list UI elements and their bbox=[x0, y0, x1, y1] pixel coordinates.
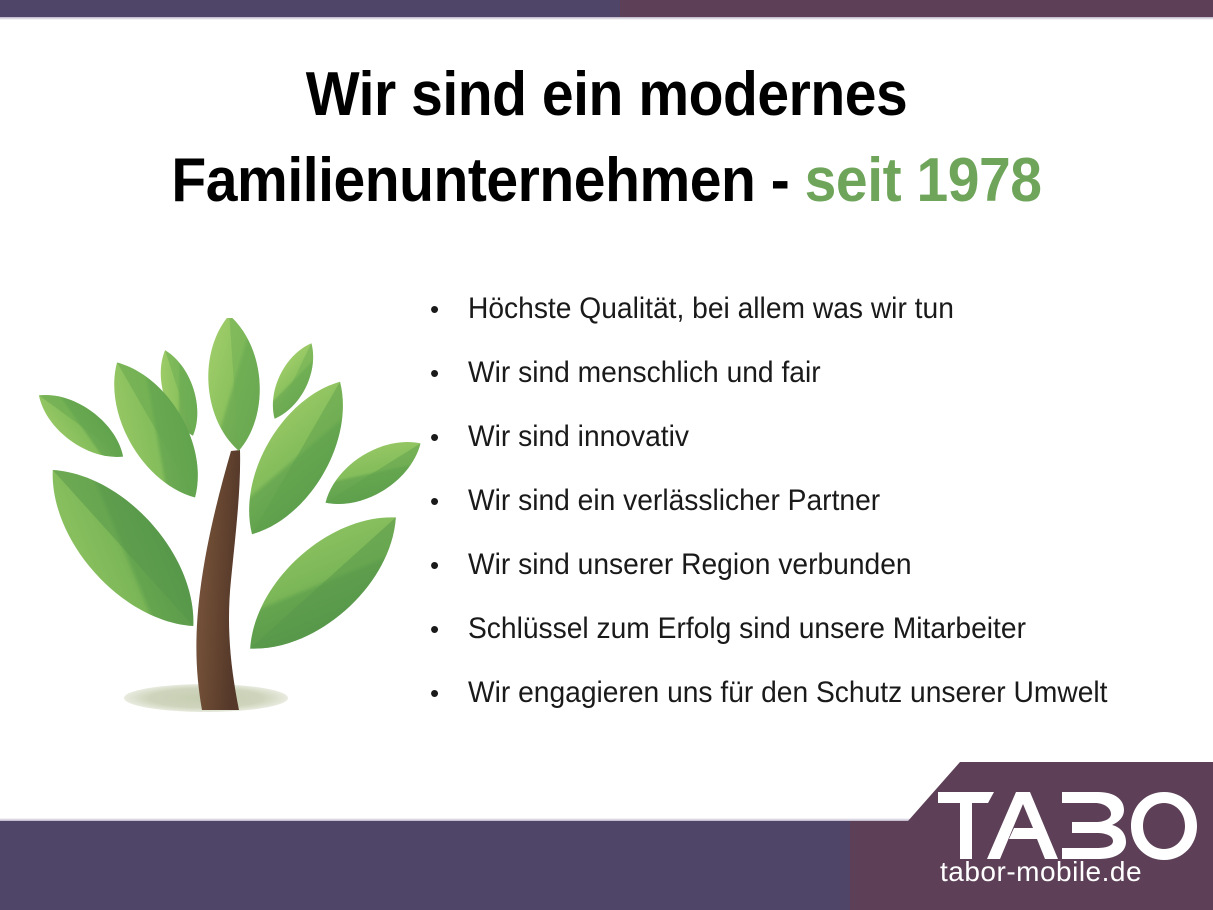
list-item-label: Wir sind innovativ bbox=[468, 420, 689, 454]
list-item: • Wir sind menschlich und fair bbox=[430, 356, 1200, 420]
page-title-line-1: Wir sind ein modernes bbox=[49, 52, 1165, 138]
list-item-label: Wir engagieren uns für den Schutz unsere… bbox=[468, 676, 1108, 710]
list-item-label: Wir sind menschlich und fair bbox=[468, 356, 821, 390]
list-item-label: Schlüssel zum Erfolg sind unsere Mitarbe… bbox=[468, 612, 1026, 646]
top-band bbox=[0, 0, 1213, 17]
list-item: • Wir sind innovativ bbox=[430, 420, 1200, 484]
brand-logo-plate: tabor-mobile.de bbox=[850, 762, 1213, 910]
slide-root: Wir sind ein modernes Familienunternehme… bbox=[0, 0, 1213, 910]
list-item: • Wir engagieren uns für den Schutz unse… bbox=[430, 676, 1200, 740]
brand-website: tabor-mobile.de bbox=[940, 858, 1142, 886]
values-bullet-list: • Höchste Qualität, bei allem was wir tu… bbox=[430, 292, 1200, 740]
list-item: • Höchste Qualität, bei allem was wir tu… bbox=[430, 292, 1200, 356]
bullet-marker-icon: • bbox=[430, 680, 468, 706]
list-item: • Schlüssel zum Erfolg sind unsere Mitar… bbox=[430, 612, 1200, 676]
bullet-marker-icon: • bbox=[430, 296, 468, 322]
page-title-accent: seit 1978 bbox=[805, 146, 1042, 215]
list-item-label: Wir sind ein verlässlicher Partner bbox=[468, 484, 880, 518]
tree-illustration bbox=[28, 318, 428, 728]
top-band-right-segment bbox=[620, 0, 1213, 17]
tabor-wordmark-svg bbox=[938, 792, 1198, 860]
page-title-line-2: Familienunternehmen - seit 1978 bbox=[49, 138, 1165, 224]
top-band-left-segment bbox=[0, 0, 620, 17]
page-title-line-2-prefix: Familienunternehmen - bbox=[171, 146, 804, 215]
page-title: Wir sind ein modernes Familienunternehme… bbox=[49, 52, 1165, 223]
bullet-marker-icon: • bbox=[430, 616, 468, 642]
tree-leaf-4 bbox=[92, 348, 219, 512]
tree-svg bbox=[28, 318, 428, 728]
top-band-highlight bbox=[0, 17, 1213, 20]
bullet-marker-icon: • bbox=[430, 424, 468, 450]
list-item: • Wir sind unserer Region verbunden bbox=[430, 548, 1200, 612]
bullet-marker-icon: • bbox=[430, 360, 468, 386]
bullet-marker-icon: • bbox=[430, 488, 468, 514]
tree-trunk bbox=[196, 450, 240, 710]
list-item: • Wir sind ein verlässlicher Partner bbox=[430, 484, 1200, 548]
list-item-label: Höchste Qualität, bei allem was wir tun bbox=[468, 292, 954, 326]
list-item-label: Wir sind unserer Region verbunden bbox=[468, 548, 912, 582]
tree-leaf-2 bbox=[204, 318, 264, 453]
bullet-marker-icon: • bbox=[430, 552, 468, 578]
